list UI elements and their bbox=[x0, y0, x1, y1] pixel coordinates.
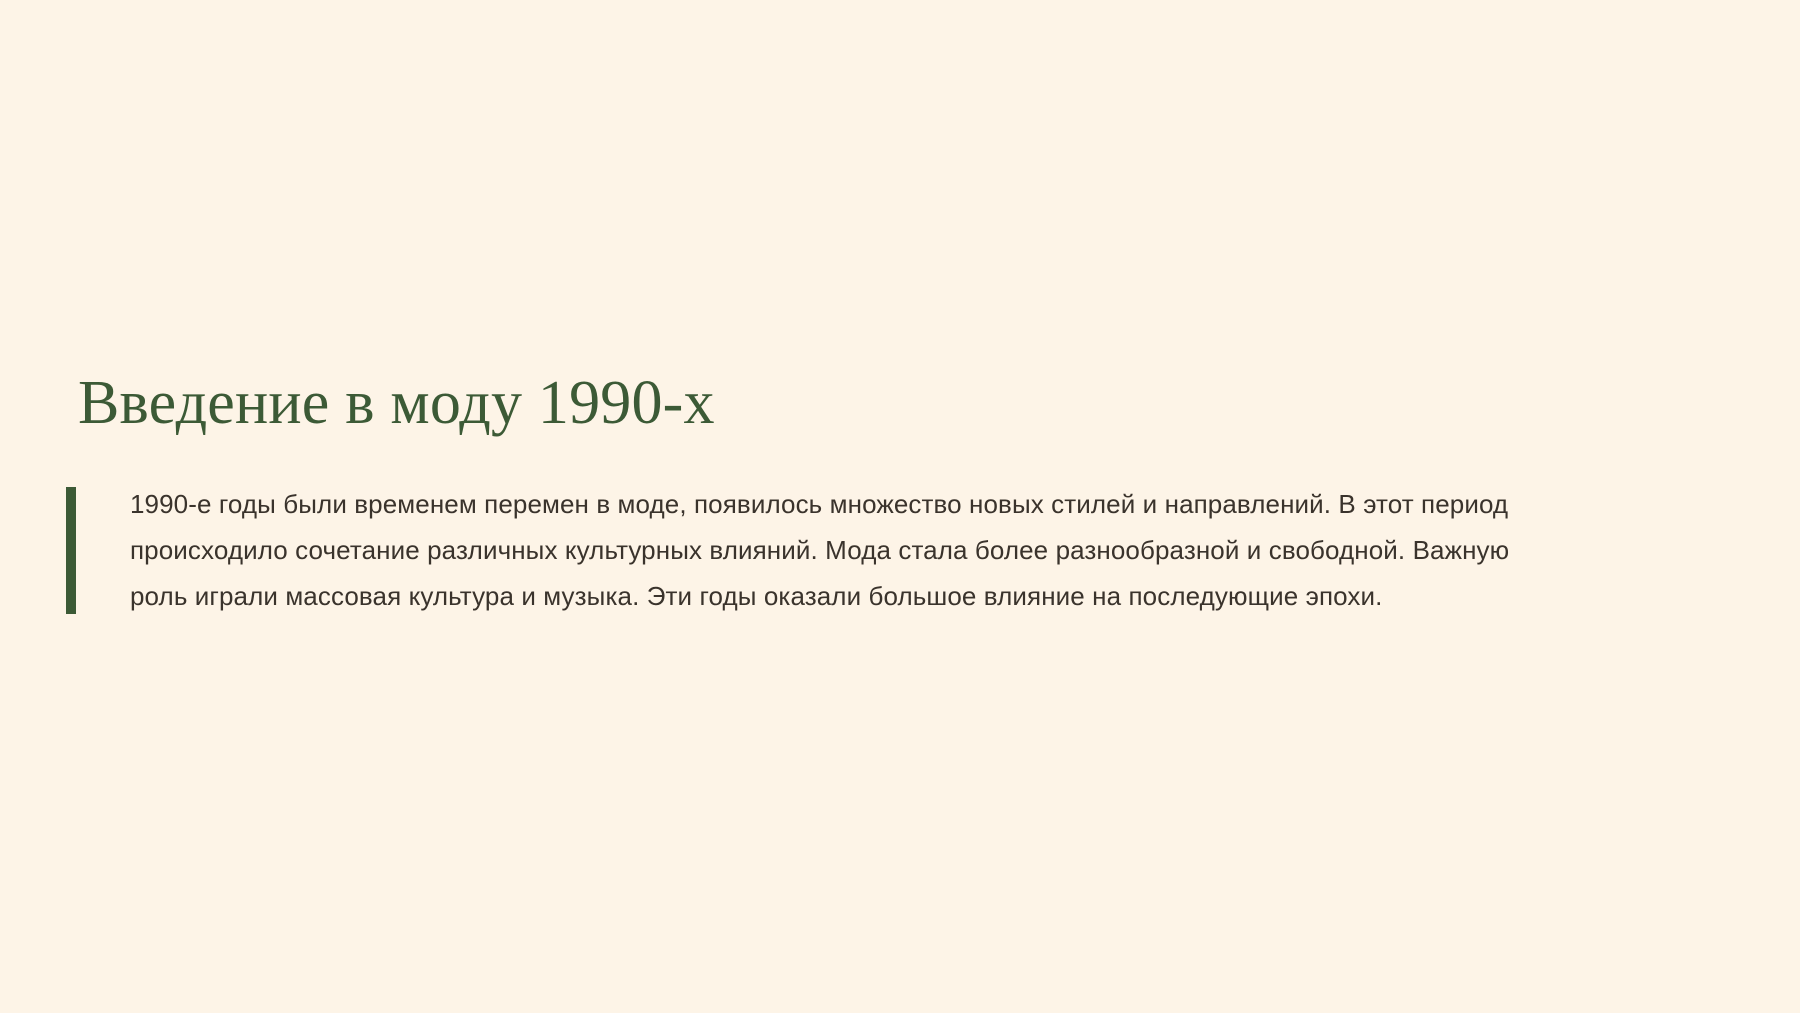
slide-content-block: Введение в моду 1990-х 1990-е годы были … bbox=[66, 370, 1746, 620]
page-title: Введение в моду 1990-х bbox=[66, 370, 1746, 437]
slide-canvas: Введение в моду 1990-х 1990-е годы были … bbox=[0, 0, 1800, 1013]
body-paragraph: 1990-е годы были временем перемен в моде… bbox=[130, 481, 1560, 620]
body-text-container: 1990-е годы были временем перемен в моде… bbox=[66, 481, 1746, 620]
accent-bar bbox=[66, 487, 76, 614]
